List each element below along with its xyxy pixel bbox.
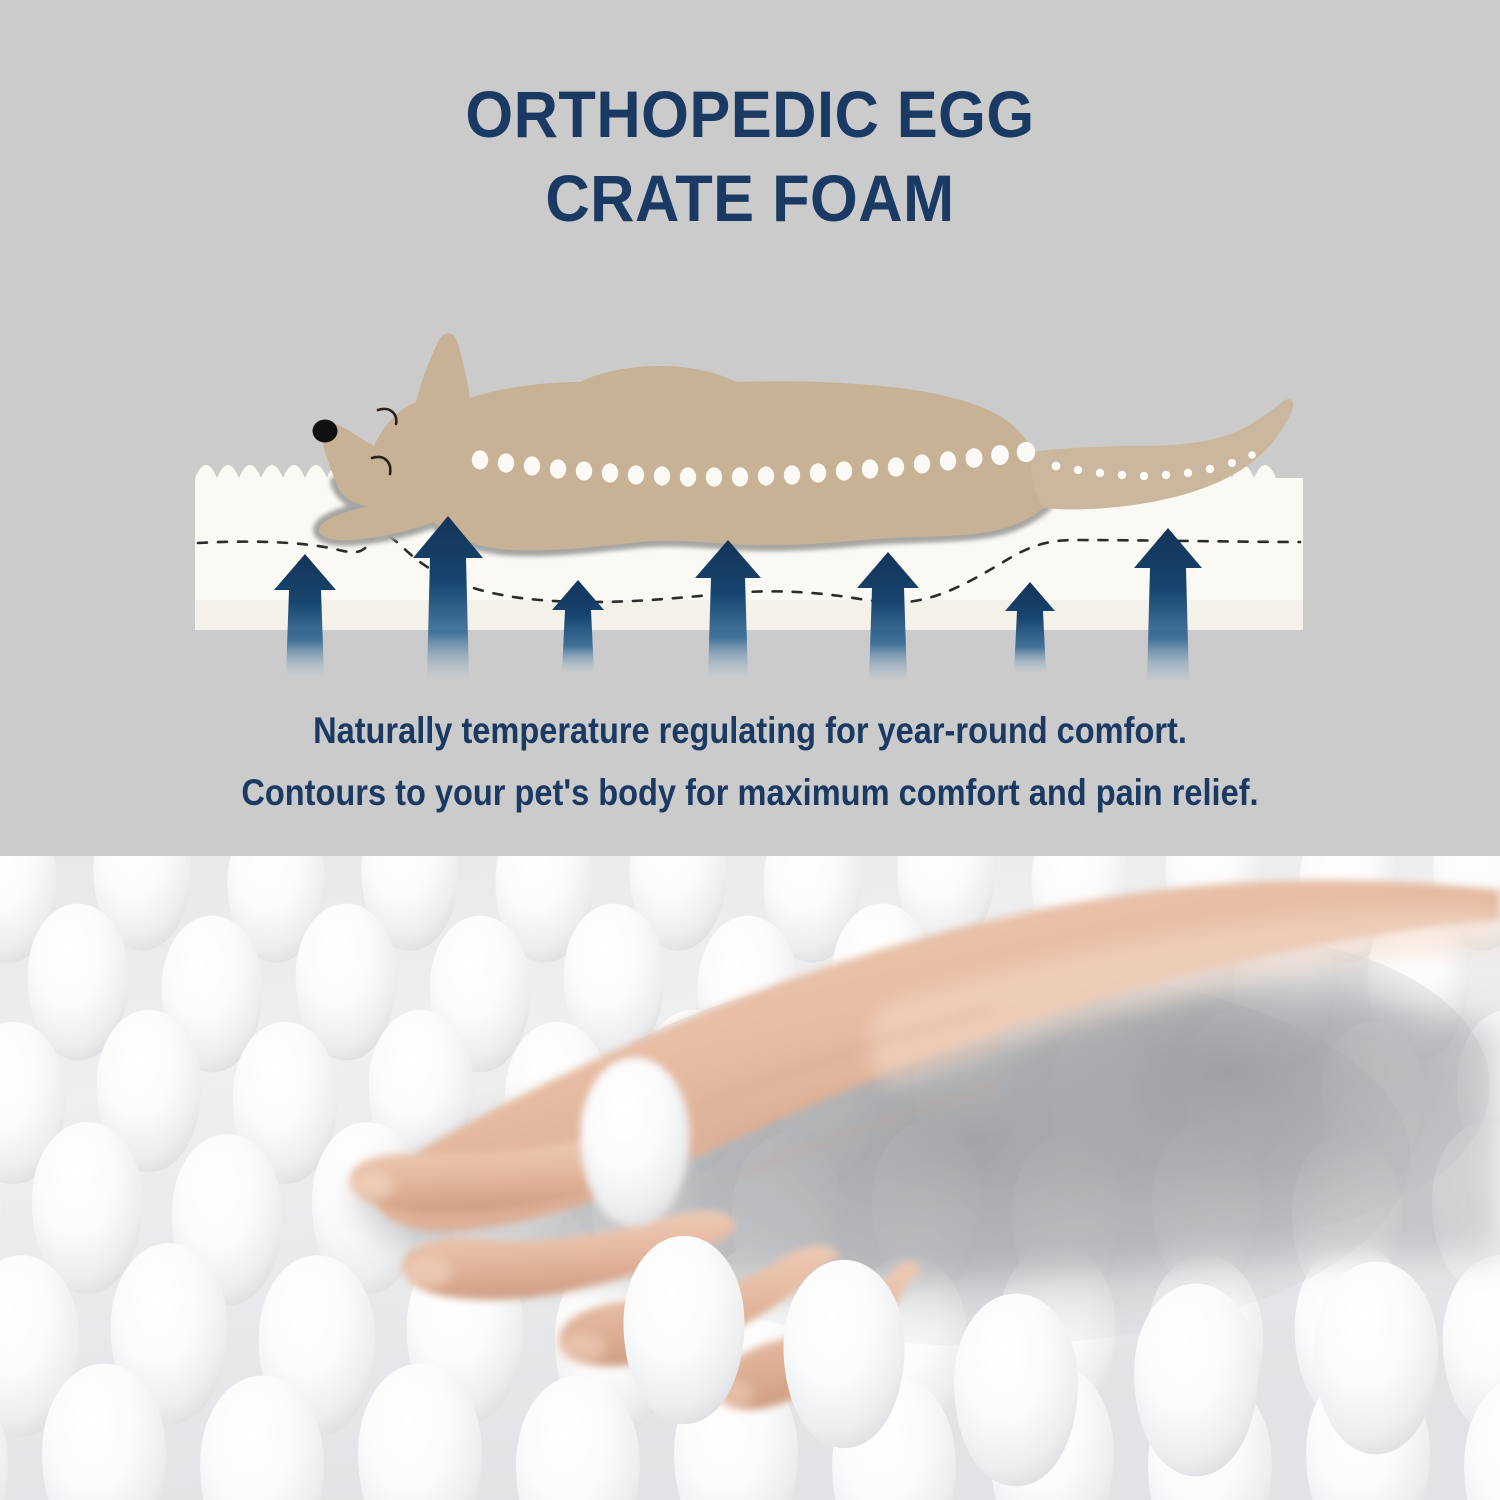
- foam-peak-front: [581, 1058, 689, 1226]
- foam-base-shade: [195, 600, 1303, 630]
- caption-line-2: Contours to your pet's body for maximum …: [90, 762, 1410, 824]
- product-photo: [0, 856, 1500, 1500]
- illustration-panel: ORTHOPEDIC EGG CRATE FOAM: [0, 0, 1500, 856]
- infographic-page: ORTHOPEDIC EGG CRATE FOAM: [0, 0, 1500, 1500]
- hand-pressing-foam-illustration: [0, 856, 1500, 1500]
- dog-body: [319, 333, 1047, 550]
- title-line-2: CRATE FOAM: [53, 156, 1448, 240]
- dog-nose-icon: [313, 420, 338, 443]
- caption-line-1: Naturally temperature regulating for yea…: [90, 700, 1410, 762]
- page-title: ORTHOPEDIC EGG CRATE FOAM: [53, 72, 1448, 240]
- dog-on-foam-diagram: [0, 300, 1500, 680]
- title-line-1: ORTHOPEDIC EGG: [53, 72, 1448, 156]
- caption: Naturally temperature regulating for yea…: [90, 700, 1410, 824]
